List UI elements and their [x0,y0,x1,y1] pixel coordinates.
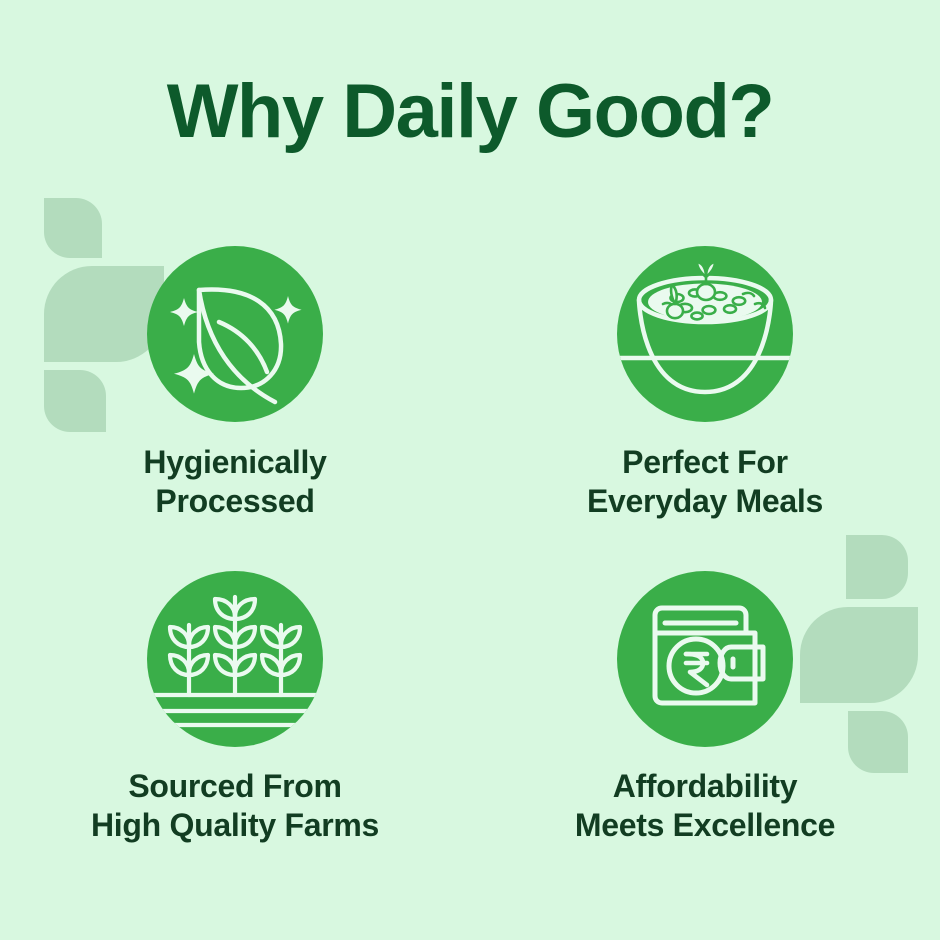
crop-field-icon [147,571,323,747]
feature-item-sourced-from-high-quality-farms: Sourced From High Quality Farms [0,571,470,896]
soup-bowl-icon [617,246,793,422]
feature-item-perfect-for-everyday-meals: Perfect For Everyday Meals [470,246,940,571]
wallet-rupee-icon [617,571,793,747]
feature-label: Hygienically Processed [143,443,326,521]
feature-label: Sourced From High Quality Farms [91,767,379,845]
feature-item-hygienically-processed: Hygienically Processed [0,246,470,571]
feature-label: Affordability Meets Excellence [575,767,835,845]
why-daily-good-poster: Why Daily Good? [0,0,940,940]
feature-grid: Hygienically Processed [0,246,940,896]
leaf-sparkle-icon [147,246,323,422]
feature-item-affordability-meets-excellence: Affordability Meets Excellence [470,571,940,896]
page-title: Why Daily Good? [0,69,940,155]
feature-label: Perfect For Everyday Meals [587,443,823,521]
